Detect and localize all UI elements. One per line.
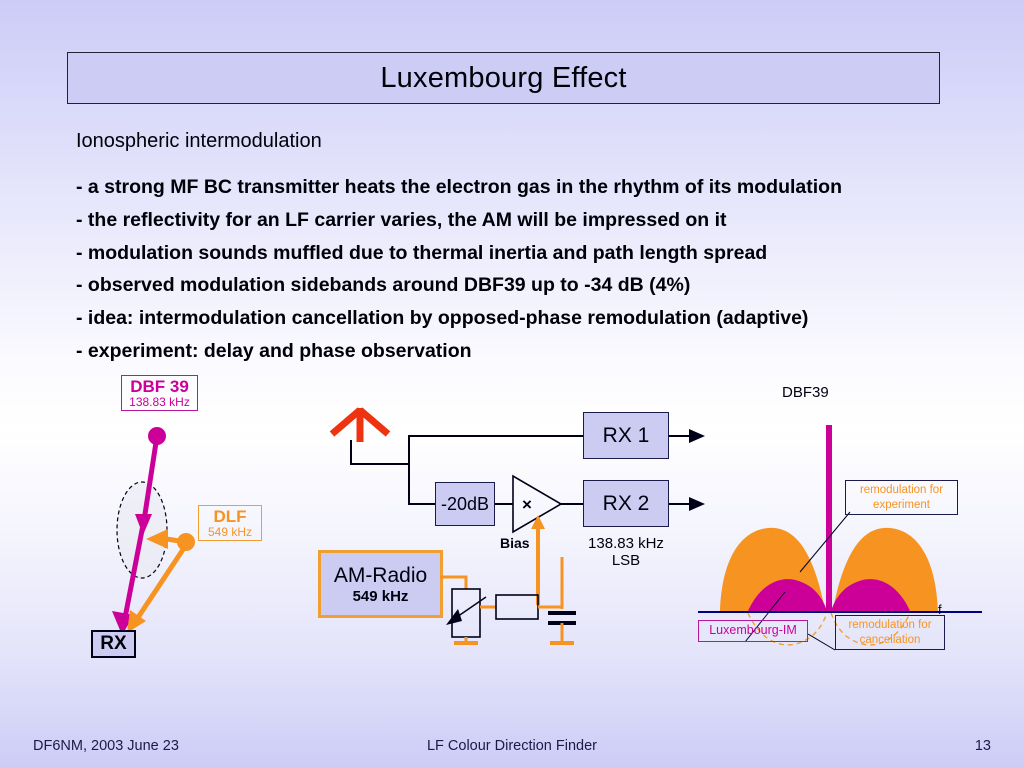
dbf39-frequency: 138.83 kHz	[129, 396, 190, 409]
rx1-label: RX 1	[603, 424, 650, 448]
callout-remodulation-experiment: remodulation for experiment	[845, 480, 958, 515]
bullet-item: - idea: intermodulation cancellation by …	[76, 302, 986, 335]
rx1-feed-line	[408, 435, 584, 437]
bias-network-icon	[440, 557, 700, 647]
bias-label: Bias	[500, 535, 530, 551]
callout-experiment-line1: remodulation for	[860, 483, 943, 497]
dbf39-name: DBF 39	[130, 378, 189, 396]
mixer-to-rx2-line	[559, 503, 584, 505]
subheading: Ionospheric intermodulation	[76, 130, 322, 153]
potentiometer-wiper-arrowhead	[446, 609, 462, 625]
callout-im-label: Luxembourg-IM	[709, 623, 797, 639]
propagation-path-diagram: DBF 39 138.83 kHz DLF 549 kHz RX	[80, 375, 310, 665]
bullet-item: - the reflectivity for an LF carrier var…	[76, 204, 986, 237]
spectrum-diagram: DBF39 remodulation for experiment	[690, 380, 990, 650]
rx2-label: RX 2	[603, 492, 650, 516]
callout-cancellation-line2: cancellation	[860, 633, 921, 647]
slide-footer: DF6NM, 2003 June 23 LF Colour Direction …	[0, 738, 1024, 760]
am-radio-frequency: 549 kHz	[353, 588, 409, 605]
am-radio-output-wire	[440, 577, 466, 589]
rx2-block: RX 2	[583, 480, 669, 527]
antenna-icon	[320, 400, 400, 450]
leader-line-cancellation	[808, 634, 835, 650]
split-vertical-line	[408, 435, 410, 505]
bullet-list: - a strong MF BC transmitter heats the e…	[76, 171, 986, 368]
antenna-feed-line	[350, 440, 352, 464]
dlf-name: DLF	[213, 508, 246, 526]
callout-cancellation-line1: remodulation for	[848, 618, 931, 632]
propagation-rays-svg	[80, 375, 310, 665]
page-title: Luxembourg Effect	[380, 62, 626, 95]
dlf-frequency: 549 kHz	[208, 526, 252, 539]
antenna-horizontal-line	[350, 463, 410, 465]
footer-page-number: 13	[975, 738, 991, 754]
slide: Luxembourg Effect Ionospheric intermodul…	[0, 0, 1024, 768]
rx1-block: RX 1	[583, 412, 669, 459]
attenuator-feed-line	[408, 503, 436, 505]
dbf39-label-box: DBF 39 138.83 kHz	[121, 375, 198, 411]
dlf-label-box: DLF 549 kHz	[198, 505, 262, 541]
frequency-axis-label: f	[938, 602, 942, 617]
callout-experiment-line2: experiment	[873, 498, 930, 512]
bullet-item: - experiment: delay and phase observatio…	[76, 335, 986, 368]
am-radio-block: AM-Radio 549 kHz	[318, 550, 443, 618]
attenuator-label: -20dB	[441, 494, 489, 515]
footer-presentation-title: LF Colour Direction Finder	[0, 738, 1024, 754]
resistor-icon	[496, 595, 538, 619]
slide-title-box: Luxembourg Effect	[67, 52, 940, 104]
am-radio-name: AM-Radio	[334, 564, 427, 588]
bullet-item: - modulation sounds muffled due to therm…	[76, 237, 986, 270]
receiver-block-diagram: -20dB × RX 1 RX 2 138.83 kHz LSB	[310, 395, 710, 650]
bullet-item: - observed modulation sidebands around D…	[76, 269, 986, 302]
bullet-item: - a strong MF BC transmitter heats the e…	[76, 171, 986, 204]
mixer-symbol: ×	[522, 495, 532, 515]
callout-remodulation-cancellation: remodulation for cancellation	[835, 615, 945, 650]
rx2-frequency: 138.83 kHz	[578, 535, 674, 552]
leader-line-experiment	[800, 512, 850, 572]
attenuator-block: -20dB	[435, 482, 495, 526]
rx-receiver-box: RX	[91, 630, 136, 658]
callout-luxembourg-im: Luxembourg-IM	[698, 620, 808, 642]
spectrum-carrier-label: DBF39	[782, 384, 829, 401]
